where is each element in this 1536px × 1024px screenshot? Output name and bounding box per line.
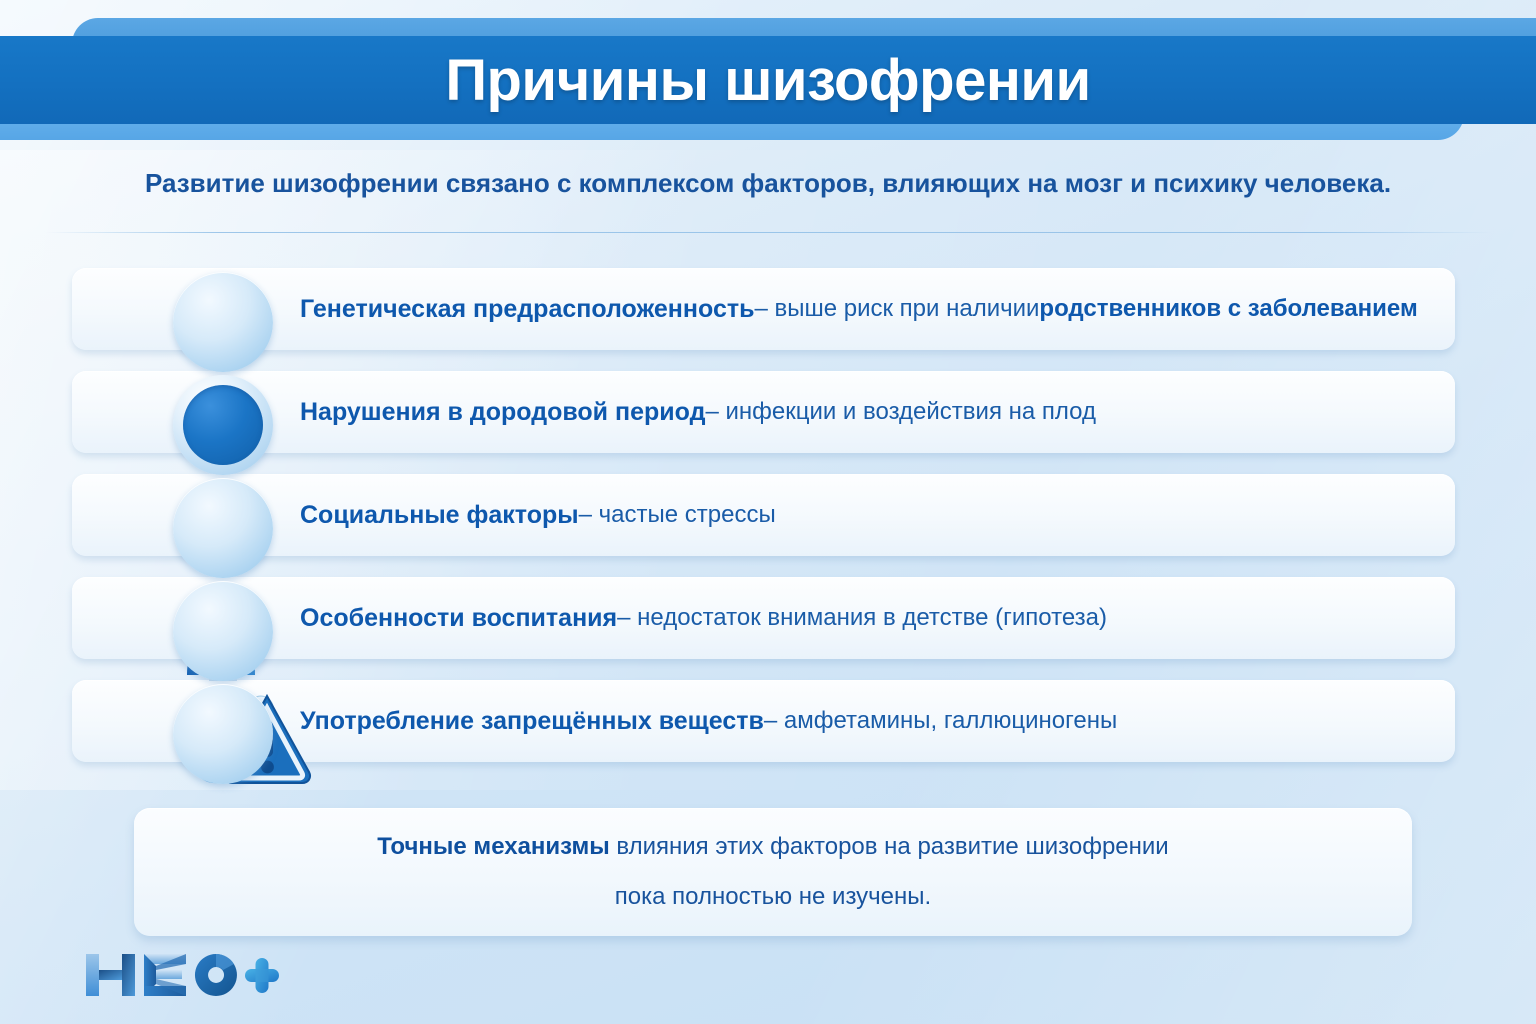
factor-list: Генетическая предрасположенность – выше …	[0, 268, 1536, 783]
row-rest-label: – амфетамины, галлюциногены	[764, 707, 1117, 735]
badge-solid-disc	[183, 385, 263, 465]
neo-plus-logo	[82, 944, 282, 1006]
row-lead-label: Употребление запрещённых веществ	[300, 707, 764, 736]
page-title: Причины шизофрении	[0, 36, 1536, 124]
row-text: Генетическая предрасположенность – выше …	[300, 268, 1418, 350]
badge-backdrop	[173, 272, 273, 372]
conclusion-strong-label: Точные механизмы	[377, 833, 609, 860]
row-rest-label: – недостаток внимания в детстве (гипотез…	[617, 604, 1107, 632]
badge-backdrop	[173, 478, 273, 578]
list-item[interactable]: Генетическая предрасположенность – выше …	[0, 268, 1536, 358]
row-lead-label: Генетическая предрасположенность	[300, 295, 754, 324]
list-item[interactable]: Нарушения в дородовой период – инфекции …	[0, 371, 1536, 461]
row-rest-label: – инфекции и воздействия на плод	[705, 398, 1096, 426]
stress-head-icon	[163, 468, 283, 588]
list-item[interactable]: Употребление запрещённых веществ – амфет…	[0, 680, 1536, 770]
subtitle-text: Развитие шизофрении связано с комплексом…	[0, 168, 1536, 199]
row-lead-label: Особенности воспитания	[300, 604, 617, 633]
conclusion-line-2: пока полностью не изучены.	[615, 885, 931, 909]
header-banner: Причины шизофрении	[0, 18, 1536, 140]
badge-backdrop	[173, 581, 273, 681]
row-lead-label: Социальные факторы	[300, 501, 579, 530]
row-text: Нарушения в дородовой период – инфекции …	[300, 371, 1096, 453]
row-lead-label: Нарушения в дородовой период	[300, 398, 705, 427]
fetus-icon	[163, 365, 283, 485]
header-divider	[45, 232, 1491, 233]
family-icon	[163, 571, 283, 691]
row-text: Особенности воспитания – недостаток вним…	[300, 577, 1107, 659]
conclusion-line-1: Точные механизмы влияния этих факторов н…	[377, 835, 1168, 859]
pills-warning-icon	[163, 674, 283, 794]
badge-backdrop	[173, 684, 273, 784]
row-text: Социальные факторы – частые стрессы	[300, 474, 776, 556]
neo-plus-logo-glyph	[82, 944, 282, 1006]
conclusion-box: Точные механизмы влияния этих факторов н…	[134, 808, 1412, 936]
row-text: Употребление запрещённых веществ – амфет…	[300, 680, 1117, 762]
row-rest-label: – частые стрессы	[579, 501, 776, 529]
dna-helix-icon	[163, 262, 283, 382]
list-item[interactable]: Социальные факторы – частые стрессы	[0, 474, 1536, 564]
list-item[interactable]: Особенности воспитания – недостаток вним…	[0, 577, 1536, 667]
conclusion-rest-label: влияния этих факторов на развитие шизофр…	[610, 833, 1169, 860]
row-emphasis-label: родственников с заболеванием	[1039, 295, 1417, 323]
row-rest-label: – выше риск при наличии	[754, 295, 1039, 323]
